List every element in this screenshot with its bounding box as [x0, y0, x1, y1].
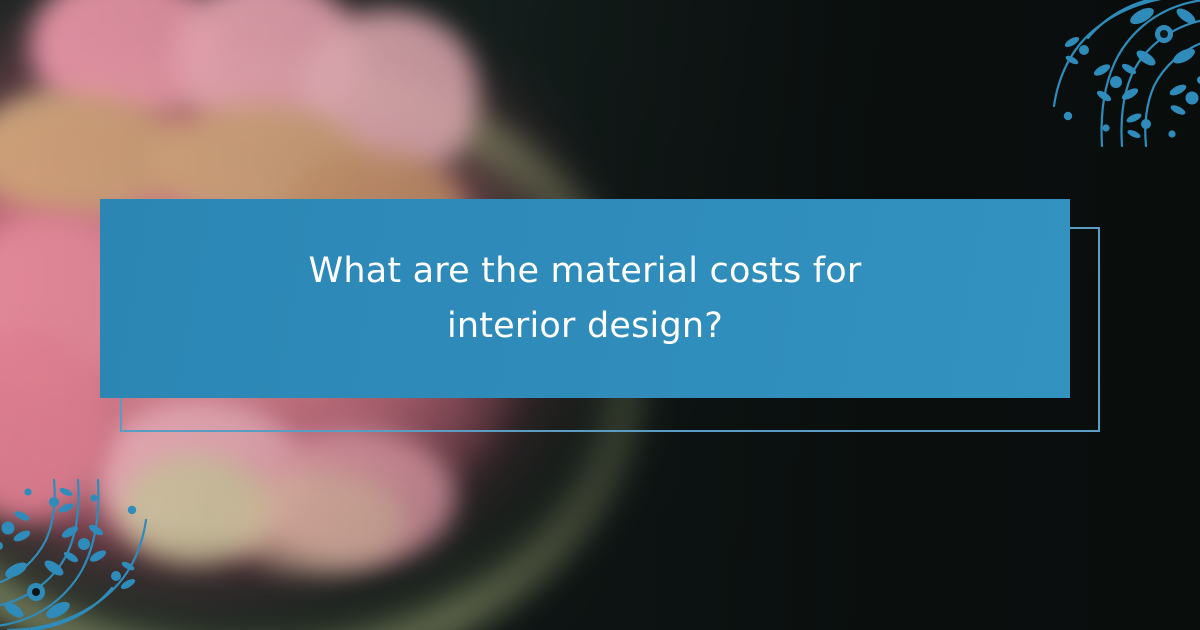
social-card: What are the material costs for interior… [0, 0, 1200, 630]
title-banner: What are the material costs for interior… [100, 199, 1070, 398]
page-title: What are the material costs for interior… [245, 244, 925, 353]
